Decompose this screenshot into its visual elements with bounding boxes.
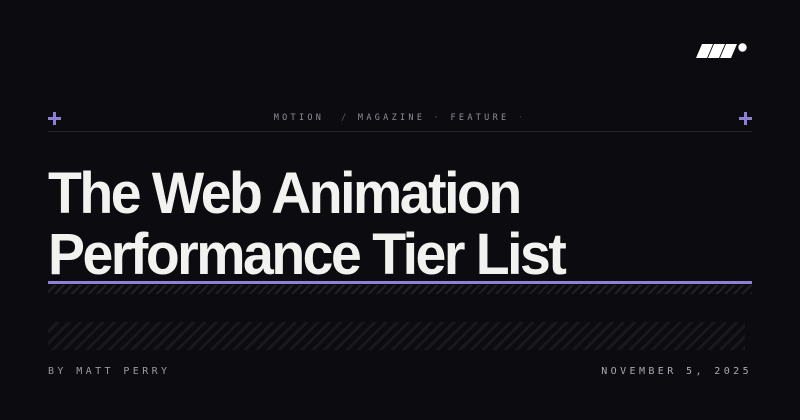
kicker-secondary: MAGAZINE [358,113,425,123]
kicker-primary: MOTION [274,113,325,123]
publish-date: NOVEMBER 5, 2025 [601,366,752,377]
eyebrow-divider [48,131,752,132]
kicker-tertiary: FEATURE [451,113,510,123]
kicker-trailing-bullet: · [518,113,526,123]
kicker-label: MOTION / MAGAZINE · FEATURE · [274,113,527,123]
kicker-bullet: · [434,113,442,123]
accent-divider [48,281,752,284]
diagonal-hatch-block [48,322,745,350]
diagonal-hatch-strip [48,285,752,294]
article-meta: BY MATT PERRY NOVEMBER 5, 2025 [48,366,752,377]
plus-icon-right [739,112,752,125]
headline-line-2: Performance Tier List [48,224,736,285]
page-title: The Web Animation Performance Tier List [48,163,768,285]
headline-line-1: The Web Animation [48,163,736,224]
motion-logo[interactable] [694,40,748,62]
byline: BY MATT PERRY [48,366,170,377]
eyebrow-row: MOTION / MAGAZINE · FEATURE · [48,108,752,128]
plus-icon-left [48,112,61,125]
article-hero-card: MOTION / MAGAZINE · FEATURE · The Web An… [0,0,800,420]
